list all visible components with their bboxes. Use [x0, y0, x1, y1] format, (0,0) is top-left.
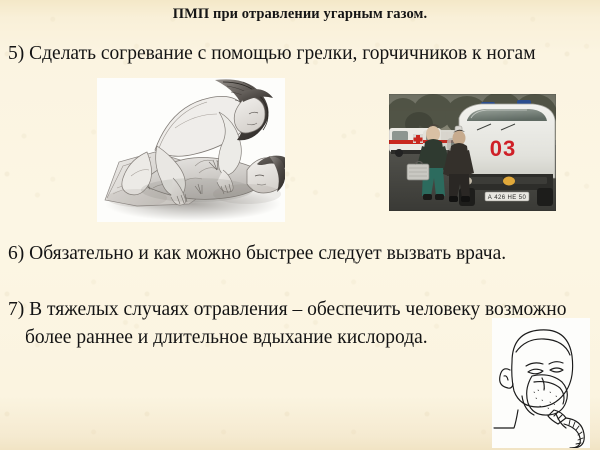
sketch-warming-graphic [97, 78, 285, 222]
svg-text:03: 03 [490, 136, 516, 161]
page-title: ПМП при отравлении угарным газом. [0, 6, 600, 23]
list-item: 5) Сделать согревание с помощью грелки, … [8, 40, 600, 68]
line-drawing-oxygen-mask-on-face [492, 318, 590, 448]
license-plate-text: А 426 НЕ 50 [488, 195, 527, 201]
oxygen-mask-graphic [492, 318, 590, 448]
photo-ambulance-paramedics: 03 А 426 НЕ 50 [389, 94, 556, 211]
pencil-sketch-covering-victim-with-blanket [97, 78, 285, 222]
photo-ambulance-graphic: 03 А 426 НЕ 50 [389, 94, 556, 211]
slide-canvas: ПМП при отравлении угарным газом. 5) Сде… [0, 0, 600, 450]
list-item: 6) Обязательно и как можно быстрее следу… [8, 240, 585, 268]
